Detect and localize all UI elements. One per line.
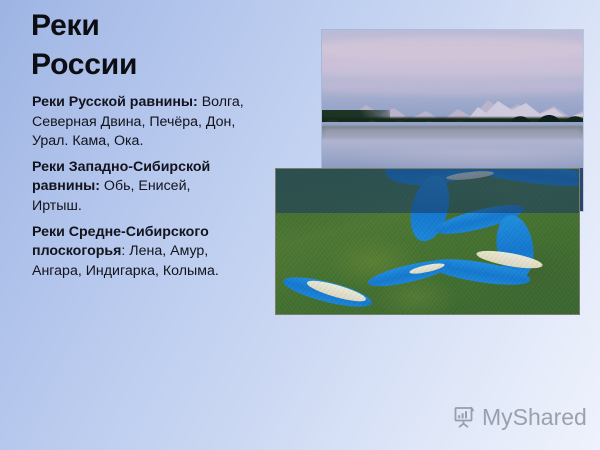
page-title: Реки России — [31, 6, 281, 84]
paragraph-central-siberian-plateau-rivers: Реки Средне-Сибирского плоскогорья: Лена… — [32, 223, 244, 282]
paragraph-west-siberian-plain-rivers: Реки Западно-Сибирской равнины: Обь, Ени… — [32, 158, 244, 217]
watermark-label: MyShared — [482, 404, 587, 431]
photo-cloud-band — [322, 59, 583, 77]
slide-body-text: Реки Русской равнины: Волга, Северная Дв… — [32, 93, 244, 281]
paragraph-russian-plain-rivers: Реки Русской равнины: Волга, Северная Дв… — [32, 93, 244, 152]
meandering-river-photo — [275, 168, 580, 315]
presentation-slide: Реки России Реки Русской равнины: Волга,… — [0, 0, 600, 450]
photo-mountain-reflection — [322, 126, 583, 151]
paragraph-lead-russian-plain: Реки Русской равнины: — [32, 94, 198, 110]
photo-cloud-band — [322, 37, 583, 61]
presentation-chart-icon — [452, 405, 477, 430]
photo-overlap-shadow — [276, 169, 579, 213]
myshared-watermark: MyShared — [452, 404, 587, 431]
photo-cloud-band — [322, 79, 583, 95]
